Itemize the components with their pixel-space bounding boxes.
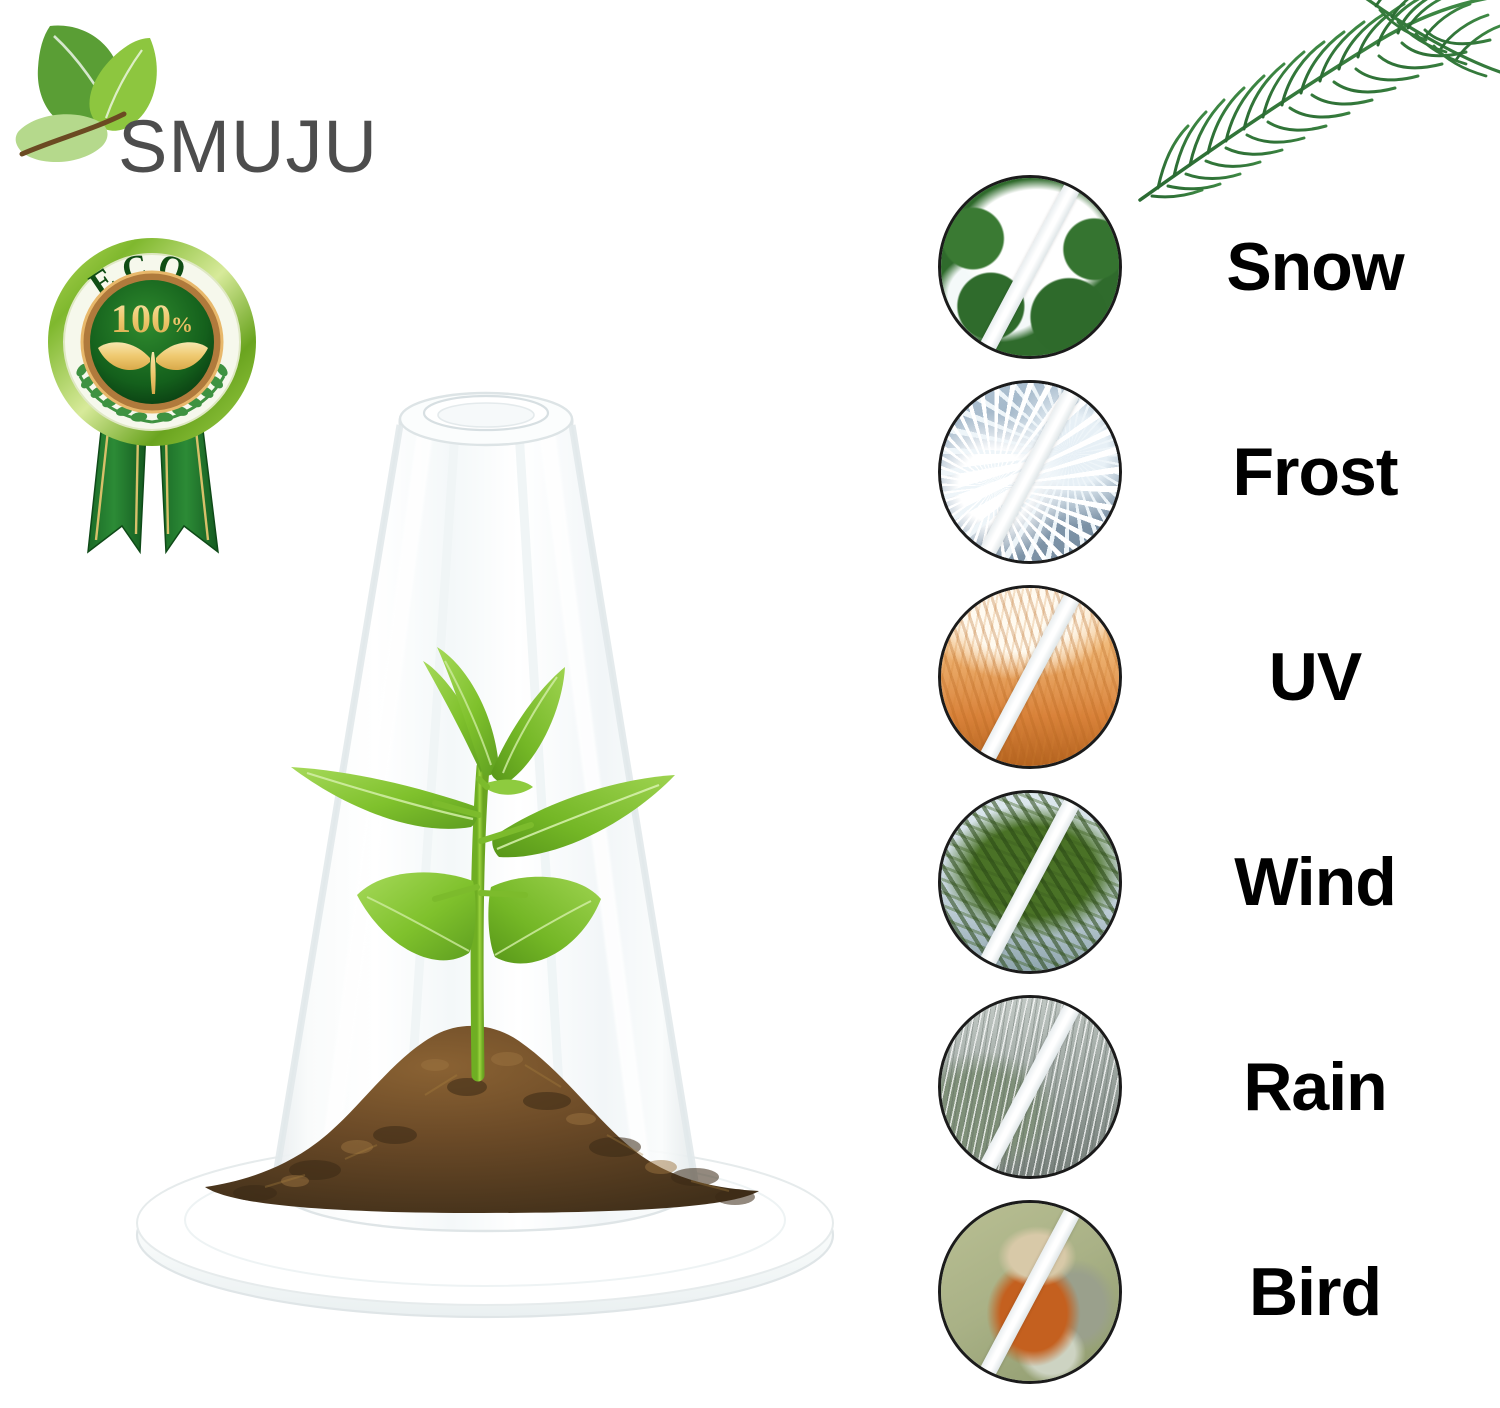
- feature-row[interactable]: Wind: [930, 790, 1490, 982]
- robin-bird-icon: [938, 1200, 1122, 1384]
- feature-label: UV: [1140, 585, 1490, 769]
- brand-wordmark: SMUJU: [118, 110, 378, 184]
- feature-row[interactable]: Bird: [930, 1200, 1490, 1392]
- feature-row[interactable]: Snow: [930, 175, 1490, 367]
- sunlit-grass-uv-icon: [938, 585, 1122, 769]
- feature-label: Frost: [1140, 380, 1490, 564]
- feature-label: Rain: [1140, 995, 1490, 1179]
- brand-logo: SMUJU: [14, 14, 394, 179]
- plant-cloche-dome: [95, 375, 875, 1335]
- feature-label: Bird: [1140, 1200, 1490, 1384]
- feature-row[interactable]: UV: [930, 585, 1490, 777]
- snow-on-pine-icon: [938, 175, 1122, 359]
- weather-protection-feature-list: Snow Frost UV Wind: [930, 175, 1490, 1400]
- feature-label: Snow: [1140, 175, 1490, 359]
- rain-streaks-icon: [938, 995, 1122, 1179]
- feature-row[interactable]: Frost: [930, 380, 1490, 572]
- frost-on-branch-icon: [938, 380, 1122, 564]
- feature-row[interactable]: Rain: [930, 995, 1490, 1187]
- feature-label: Wind: [1140, 790, 1490, 974]
- product-marketing-image: SMUJU: [0, 0, 1500, 1408]
- windblown-palm-icon: [938, 790, 1122, 974]
- cloche-top-vent: [400, 393, 572, 445]
